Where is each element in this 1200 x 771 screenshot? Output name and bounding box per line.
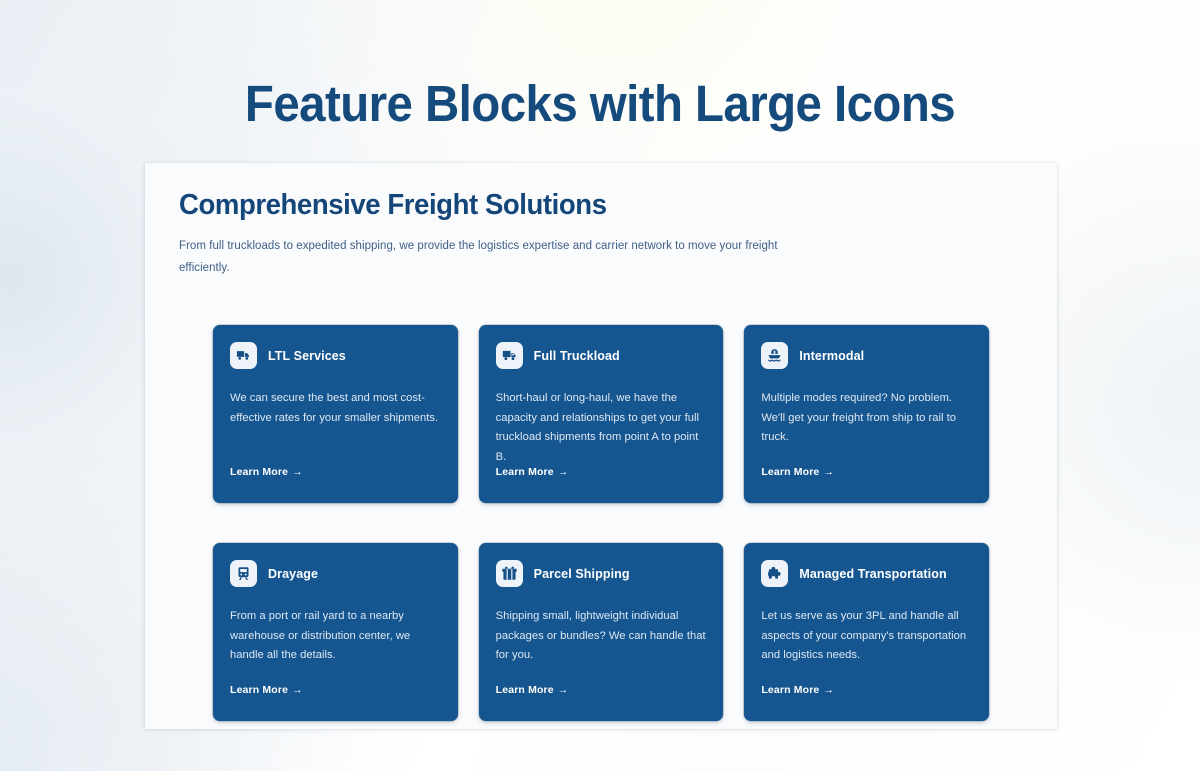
card-header: Full Truckload — [496, 342, 707, 369]
learn-more-label: Learn More — [230, 684, 288, 696]
learn-more-label: Learn More — [761, 466, 819, 478]
arrow-right-icon: → — [292, 684, 303, 696]
card-description: Let us serve as your 3PL and handle all … — [761, 607, 972, 666]
arrow-right-icon: → — [558, 684, 569, 696]
card-title: Managed Transportation — [799, 567, 946, 581]
feature-card[interactable]: DrayageFrom a port or rail yard to a nea… — [213, 543, 458, 721]
card-description: From a port or rail yard to a nearby war… — [230, 607, 441, 666]
page-title: Feature Blocks with Large Icons — [42, 74, 1158, 134]
card-header: Managed Transportation — [761, 560, 972, 587]
card-description: Short-haul or long-haul, we have the cap… — [496, 389, 707, 467]
arrow-right-icon: → — [823, 466, 834, 478]
feature-card[interactable]: Parcel ShippingShipping small, lightweig… — [479, 543, 724, 721]
feature-card[interactable]: LTL ServicesWe can secure the best and m… — [213, 325, 458, 503]
feature-card[interactable]: Full TruckloadShort-haul or long-haul, w… — [479, 325, 724, 503]
learn-more-link[interactable]: Learn More→ — [496, 466, 569, 478]
card-description: Shipping small, lightweight individual p… — [496, 607, 707, 666]
section-heading: Comprehensive Freight Solutions — [179, 187, 981, 223]
card-title: LTL Services — [268, 349, 346, 363]
learn-more-label: Learn More — [761, 684, 819, 696]
feature-card-grid: LTL ServicesWe can secure the best and m… — [213, 325, 989, 721]
card-header: Drayage — [230, 560, 441, 587]
card-header: Intermodal — [761, 342, 972, 369]
learn-more-link[interactable]: Learn More→ — [761, 684, 834, 696]
panel-inner: Comprehensive Freight Solutions From ful… — [179, 163, 1023, 729]
arrow-right-icon: → — [292, 466, 303, 478]
learn-more-link[interactable]: Learn More→ — [230, 684, 303, 696]
ltl-truck-icon — [230, 342, 257, 369]
puzzle-piece-icon — [761, 560, 788, 587]
arrow-right-icon: → — [558, 466, 569, 478]
learn-more-label: Learn More — [496, 684, 554, 696]
train-icon — [230, 560, 257, 587]
card-title: Intermodal — [799, 349, 864, 363]
learn-more-label: Learn More — [496, 466, 554, 478]
card-description: Multiple modes required? No problem. We'… — [761, 389, 972, 448]
card-title: Parcel Shipping — [534, 567, 630, 581]
card-header: LTL Services — [230, 342, 441, 369]
card-description: We can secure the best and most cost-eff… — [230, 389, 441, 428]
card-title: Full Truckload — [534, 349, 620, 363]
learn-more-label: Learn More — [230, 466, 288, 478]
package-box-icon — [496, 560, 523, 587]
content-panel: Comprehensive Freight Solutions From ful… — [145, 163, 1057, 729]
delivery-truck-icon — [496, 342, 523, 369]
learn-more-link[interactable]: Learn More→ — [761, 466, 834, 478]
card-title: Drayage — [268, 567, 318, 581]
feature-card[interactable]: IntermodalMultiple modes required? No pr… — [744, 325, 989, 503]
learn-more-link[interactable]: Learn More→ — [496, 684, 569, 696]
feature-card[interactable]: Managed TransportationLet us serve as yo… — [744, 543, 989, 721]
section-subheading: From full truckloads to expedited shippi… — [179, 236, 804, 279]
card-header: Parcel Shipping — [496, 560, 707, 587]
learn-more-link[interactable]: Learn More→ — [230, 466, 303, 478]
ship-icon — [761, 342, 788, 369]
arrow-right-icon: → — [823, 684, 834, 696]
